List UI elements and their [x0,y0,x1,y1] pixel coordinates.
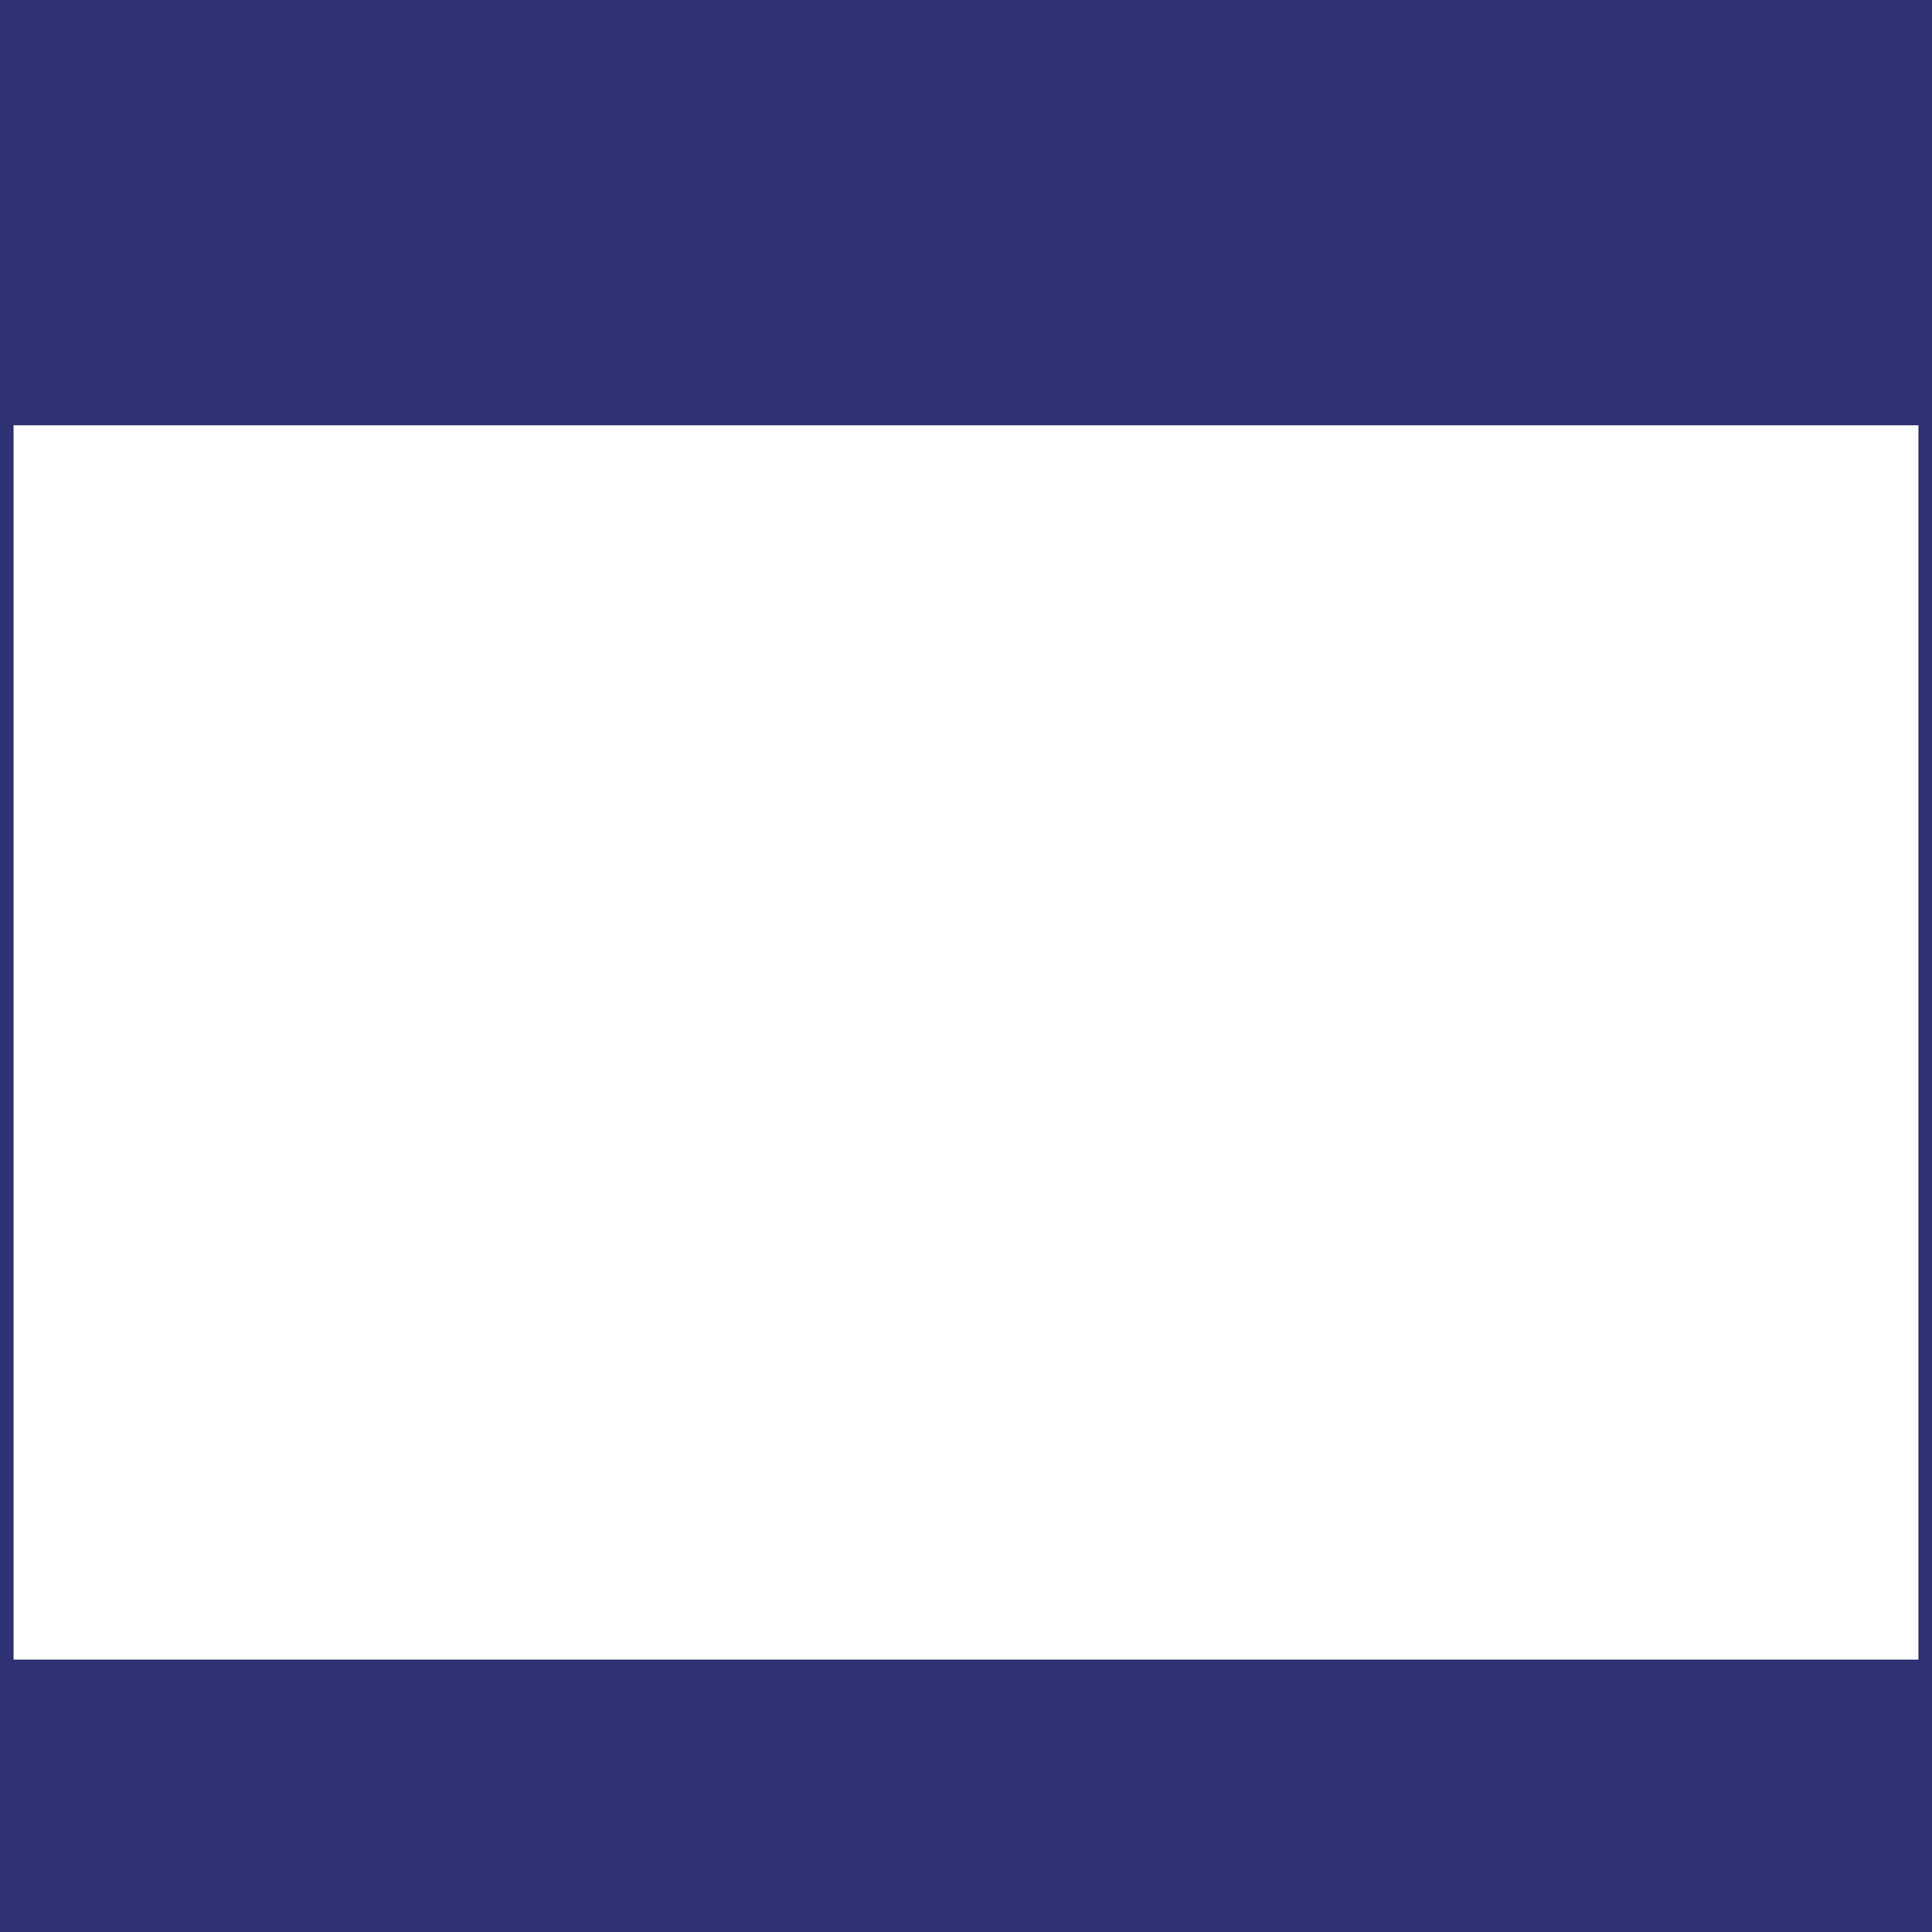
spreadsheet-area[interactable] [14,425,1918,1660]
page-title [0,0,1932,37]
